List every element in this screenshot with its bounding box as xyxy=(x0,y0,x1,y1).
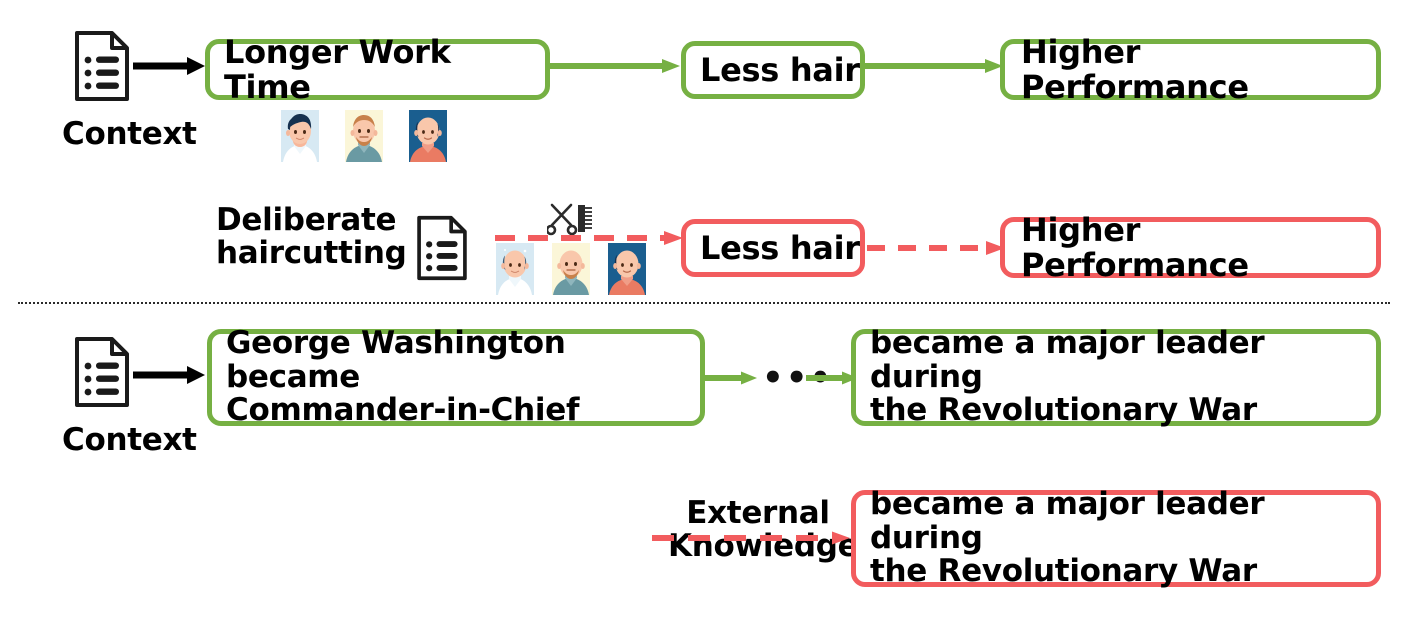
arrow-hair-to-performance-red xyxy=(867,238,1007,258)
node-higher-performance-red[interactable]: Higher Performance xyxy=(1000,217,1381,278)
document-list-icon xyxy=(74,30,130,102)
arrow-gw-to-ellipsis xyxy=(705,368,759,388)
figure-canvas: Context Longer Work Time Less hair Highe… xyxy=(0,0,1407,632)
person-thinning-hair-avatar xyxy=(345,110,383,162)
person-balding-avatar xyxy=(409,110,447,162)
context-label-top: Context xyxy=(62,118,197,151)
node-longer-work-time[interactable]: Longer Work Time xyxy=(205,39,550,100)
node-major-leader-green[interactable]: became a major leader during the Revolut… xyxy=(851,329,1381,426)
document-list-icon-haircut xyxy=(416,215,468,281)
person-full-hair-avatar xyxy=(281,110,319,162)
section-divider xyxy=(18,302,1390,304)
node-george-washington[interactable]: George Washington became Commander-in-Ch… xyxy=(207,329,705,426)
person-shaved-beard-avatar xyxy=(552,243,590,295)
node-major-leader-red[interactable]: became a major leader during the Revolut… xyxy=(851,490,1381,587)
arrow-context-to-work xyxy=(133,52,209,80)
arrow-hair-to-performance xyxy=(865,56,1005,76)
document-list-icon-bottom xyxy=(74,336,130,408)
arrow-context-to-gw xyxy=(133,361,209,389)
person-shaved-dark-avatar xyxy=(608,243,646,295)
deliberate-haircutting-label: Deliberate haircutting xyxy=(216,204,407,269)
arrow-work-to-hair xyxy=(550,56,682,76)
context-label-bottom: Context xyxy=(62,424,197,457)
node-less-hair-red[interactable]: Less hair xyxy=(681,219,865,277)
node-less-hair-green[interactable]: Less hair xyxy=(681,41,865,99)
node-higher-performance-green[interactable]: Higher Performance xyxy=(1000,39,1381,100)
arrow-external-to-leader xyxy=(652,528,852,548)
person-shaved-head-avatar xyxy=(496,243,534,295)
